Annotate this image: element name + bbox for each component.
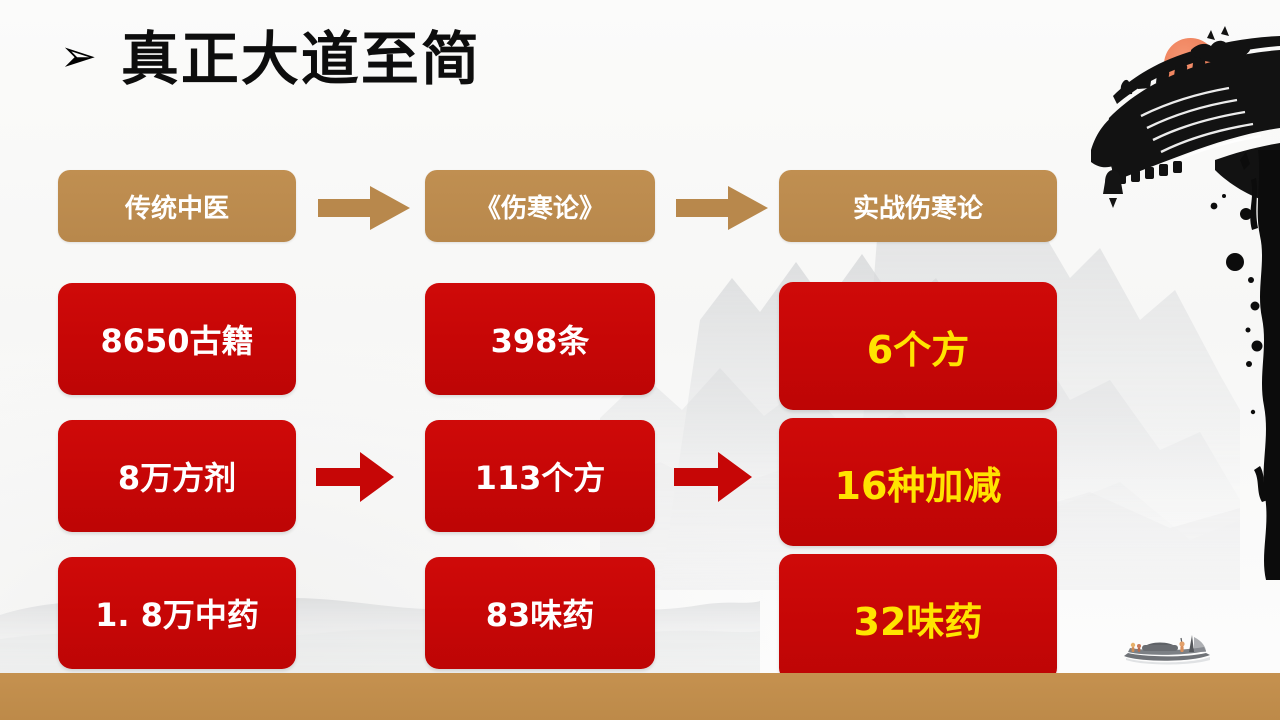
body-arrow-2 — [674, 452, 752, 502]
header-arrow-2 — [676, 186, 768, 230]
title-text: 真正大道至简 — [121, 30, 481, 88]
header-arrow-1 — [318, 186, 410, 230]
footer-bar — [0, 673, 1280, 720]
slide-canvas: ➢ 真正大道至简 传统中医 《伤寒论》 实战伤寒论 8650古籍 398条 6个… — [0, 0, 1280, 720]
header-box-practical-shanghanlun[interactable]: 实战伤寒论 — [779, 170, 1057, 242]
header-box-label: 实战伤寒论 — [853, 188, 983, 225]
header-box-shanghanlun[interactable]: 《伤寒论》 — [425, 170, 655, 242]
cell-clauses[interactable]: 398条 — [425, 283, 655, 395]
cell-label: 113个方 — [475, 453, 606, 499]
cell-ancient-texts[interactable]: 8650古籍 — [58, 283, 296, 395]
body-arrow-1 — [316, 452, 394, 502]
cell-label: 32味药 — [854, 591, 983, 646]
cell-113-formulas[interactable]: 113个方 — [425, 420, 655, 532]
cell-label: 16种加减 — [835, 455, 1002, 510]
hanging-bell-decoration — [1103, 162, 1123, 208]
ink-splatter-decoration — [1202, 150, 1280, 580]
cell-label: 6个方 — [867, 319, 969, 374]
cell-32-herbs[interactable]: 32味药 — [779, 554, 1057, 682]
cell-label: 8万方剂 — [118, 453, 236, 499]
cell-label: 1. 8万中药 — [95, 590, 259, 636]
header-box-label: 《伤寒论》 — [475, 188, 605, 225]
header-box-traditional-tcm[interactable]: 传统中医 — [58, 170, 296, 242]
cell-83-herbs[interactable]: 83味药 — [425, 557, 655, 669]
cell-label: 398条 — [491, 316, 590, 362]
cell-label: 8650古籍 — [100, 316, 253, 362]
cell-herbs-total[interactable]: 1. 8万中药 — [58, 557, 296, 669]
boat-decoration — [1118, 632, 1222, 666]
bullet-arrow-icon: ➢ — [60, 35, 97, 79]
temple-roof-decoration — [1065, 0, 1280, 230]
page-title: ➢ 真正大道至简 — [60, 30, 481, 88]
cell-six-formulas[interactable]: 6个方 — [779, 282, 1057, 410]
cell-label: 83味药 — [486, 590, 595, 636]
sun-decoration — [1164, 38, 1217, 91]
header-box-label: 传统中医 — [125, 188, 229, 225]
cell-formulas-count[interactable]: 8万方剂 — [58, 420, 296, 532]
cell-sixteen-variations[interactable]: 16种加减 — [779, 418, 1057, 546]
